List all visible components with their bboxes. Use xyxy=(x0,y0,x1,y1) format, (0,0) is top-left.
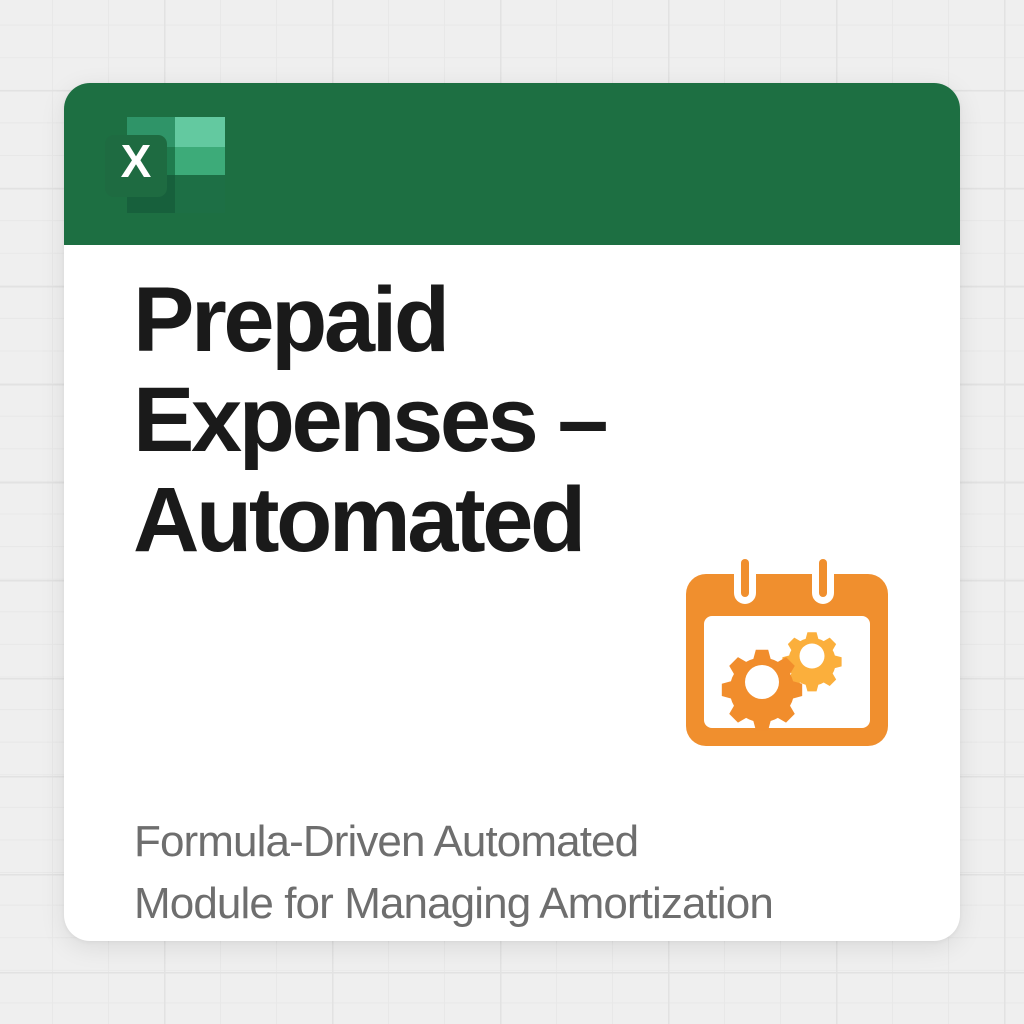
card-header: X xyxy=(64,83,960,245)
page-title: Prepaid Expenses – Automated xyxy=(133,270,753,570)
content-card: X Prepaid Expenses – Automated xyxy=(64,83,960,941)
page-subtitle: Formula-Driven Automated Module for Mana… xyxy=(134,811,924,935)
card-body: Prepaid Expenses – Automated xyxy=(64,245,960,941)
calendar-gears-icon xyxy=(684,552,890,768)
page-canvas: X Prepaid Expenses – Automated xyxy=(0,0,1024,1024)
microsoft-excel-logo: X xyxy=(105,109,229,221)
svg-text:X: X xyxy=(121,135,152,187)
